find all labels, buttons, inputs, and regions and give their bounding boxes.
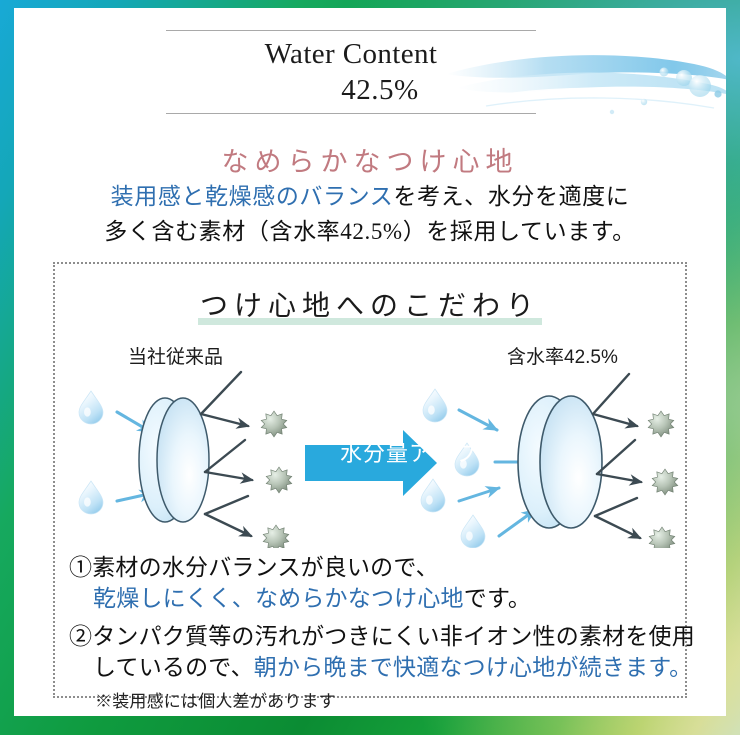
intro-line-2: 多く含む素材（含水率42.5%）を採用しています。: [14, 215, 726, 250]
bullet-1-line-1: ①素材の水分バランスが良いので、: [69, 552, 681, 583]
title-water-content-value: 42.5%: [166, 73, 536, 113]
left-diagram-group: [79, 372, 292, 548]
bullet-2-line-2: しているので、朝から晩まで快適なつけ心地が続きます。: [69, 652, 681, 683]
title-english: Water Content: [166, 31, 536, 73]
bullet-1-line-2-black: です。: [464, 586, 531, 611]
dirt-particle-icon: [266, 467, 292, 493]
bullet-2-line-2-black: しているので、: [93, 655, 254, 680]
section-heading: つけ心地へのこだわり: [55, 284, 685, 325]
dirt-particle-icon: [648, 411, 674, 437]
intro-paragraph: 装用感と乾燥感のバランスを考え、水分を適度に 多く含む素材（含水率42.5%）を…: [14, 180, 726, 250]
benefit-list: ①素材の水分バランスが良いので、 乾燥しにくく、なめらかなつけ心地です。 ②タン…: [69, 552, 681, 712]
bullet-2-marker: ②: [69, 624, 92, 649]
intro-line-1-black: を考え、水分を適度に: [393, 184, 629, 209]
water-droplet-icon: [461, 515, 485, 548]
bullet-2-line-1: ②タンパク質等の汚れがつきにくい非イオン性の素材を使用: [69, 621, 681, 652]
title-rule-bottom: [166, 113, 536, 114]
bullet-1-marker: ①: [69, 555, 92, 580]
dirt-particle-icon: [649, 527, 675, 548]
water-droplet-icon: [421, 479, 445, 512]
bullet-1-line-2: 乾燥しにくく、なめらかなつけ心地です。: [69, 583, 681, 614]
poster-frame: Water Content 42.5% なめらかなつけ心地 装用感と乾燥感のバラ…: [0, 0, 740, 735]
label-conventional-product: 当社従来品: [128, 342, 223, 369]
list-item: ①素材の水分バランスが良いので、 乾燥しにくく、なめらかなつけ心地です。: [69, 552, 681, 614]
contact-lens-cross-section-icon: [139, 398, 209, 522]
detail-box: つけ心地へのこだわり 当社従来品 含水率42.5%: [53, 262, 687, 698]
water-droplet-icon: [79, 481, 103, 514]
contact-lens-cross-section-icon: [518, 396, 602, 528]
bullet-2-line-2-blue: 朝から晩まで快適なつけ心地が続きます。: [254, 655, 693, 680]
page-title: Water Content 42.5%: [166, 30, 536, 114]
list-item: ②タンパク質等の汚れがつきにくい非イオン性の素材を使用 しているので、朝から晩ま…: [69, 621, 681, 712]
dirt-particle-icon: [263, 525, 289, 548]
content-card: Water Content 42.5% なめらかなつけ心地 装用感と乾燥感のバラ…: [14, 8, 726, 716]
section-heading-text: つけ心地へのこだわり: [198, 284, 542, 325]
label-water-content-425: 含水率42.5%: [507, 342, 618, 369]
intro-line-1: 装用感と乾燥感のバランスを考え、水分を適度に: [14, 180, 726, 215]
footnote: ※装用感には個人差があります: [69, 687, 681, 712]
bullet-1-text: 素材の水分バランスが良いので、: [92, 555, 439, 580]
water-droplet-icon: [423, 389, 447, 422]
dirt-particle-icon: [652, 469, 678, 495]
lead-heading: なめらかなつけ心地: [14, 140, 726, 179]
intro-line-1-blue: 装用感と乾燥感のバランス: [111, 184, 394, 209]
moisture-up-banner-label: 水分量アップ: [340, 436, 450, 468]
bullet-2-text: タンパク質等の汚れがつきにくい非イオン性の素材を使用: [92, 624, 695, 649]
water-droplet-icon: [79, 391, 103, 424]
dirt-particle-icon: [261, 411, 287, 437]
bullet-1-line-2-blue: 乾燥しにくく、なめらかなつけ心地: [93, 586, 464, 611]
